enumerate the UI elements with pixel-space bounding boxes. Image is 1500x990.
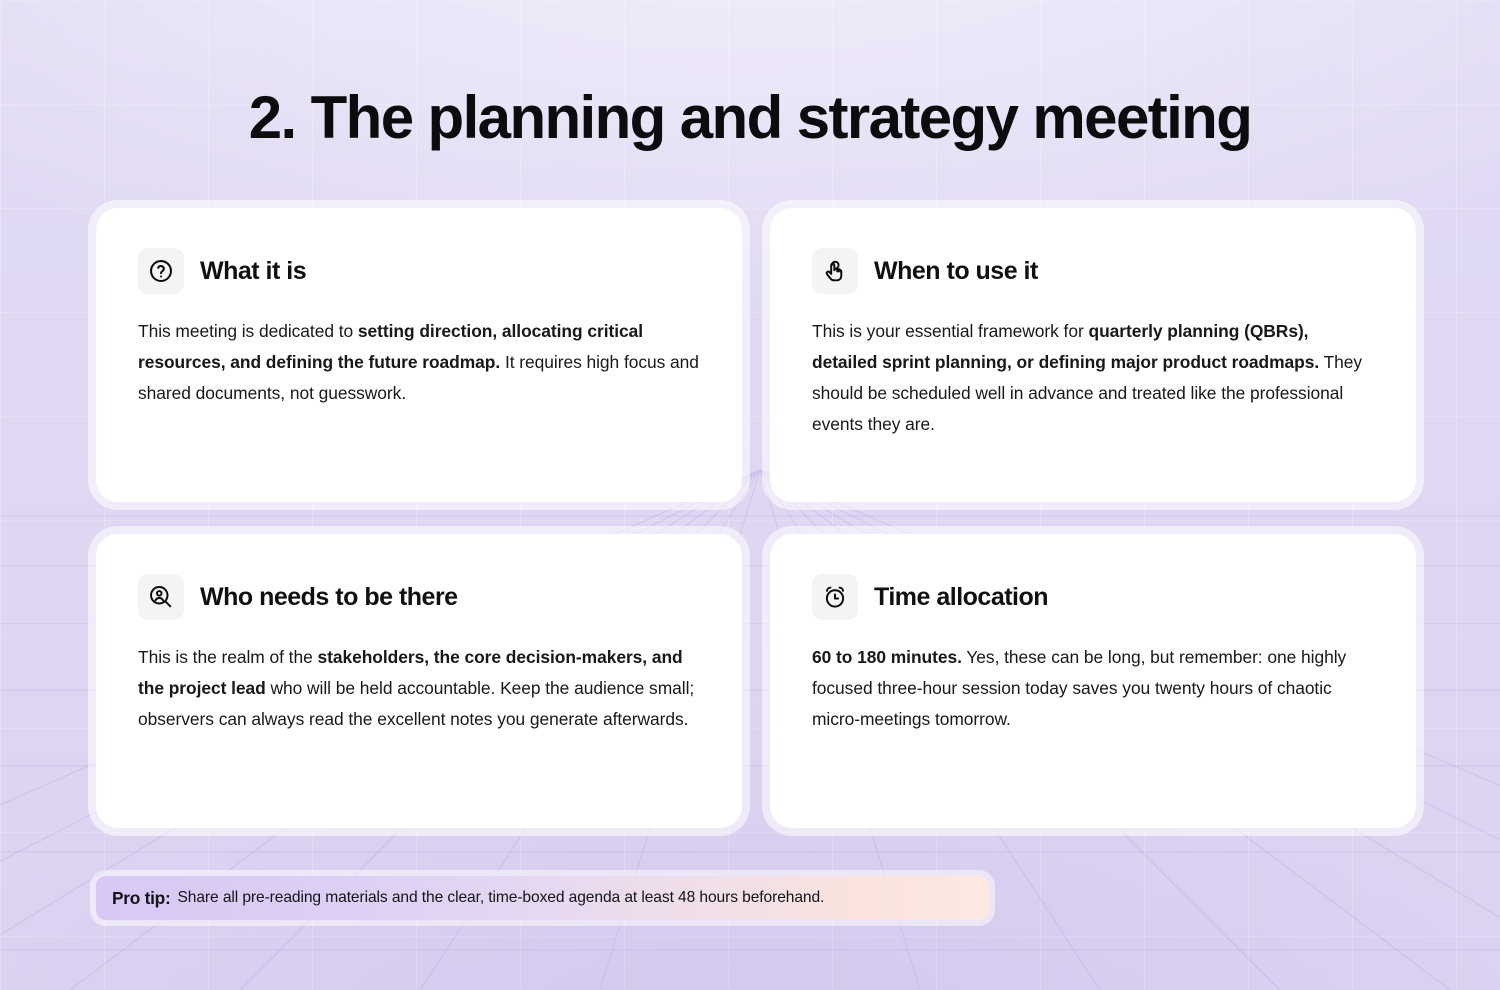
card-who-needs-to-be-there: Who needs to be there This is the realm … <box>96 534 742 828</box>
pro-tip-text: Share all pre-reading materials and the … <box>177 889 824 907</box>
card-body: 60 to 180 minutes. Yes, these can be lon… <box>812 642 1374 735</box>
card-body: This is your essential framework for qua… <box>812 316 1374 440</box>
person-search-icon <box>138 574 184 620</box>
card-header: What it is <box>138 248 700 294</box>
pro-tip-banner: Pro tip: Share all pre-reading materials… <box>96 876 989 920</box>
alarm-clock-icon <box>812 574 858 620</box>
card-body: This meeting is dedicated to setting dir… <box>138 316 700 409</box>
card-header: Who needs to be there <box>138 574 700 620</box>
card-title: Who needs to be there <box>200 583 458 612</box>
page-title: 2. The planning and strategy meeting <box>0 86 1500 149</box>
card-time-allocation: Time allocation 60 to 180 minutes. Yes, … <box>770 534 1416 828</box>
card-header: Time allocation <box>812 574 1374 620</box>
pro-tip-label: Pro tip: <box>112 888 170 909</box>
question-circle-icon <box>138 248 184 294</box>
card-body: This is the realm of the stakeholders, t… <box>138 642 700 735</box>
card-title: Time allocation <box>874 583 1048 612</box>
tap-hand-icon <box>812 248 858 294</box>
card-grid: What it is This meeting is dedicated to … <box>96 208 1416 828</box>
card-title: What it is <box>200 257 306 286</box>
card-what-it-is: What it is This meeting is dedicated to … <box>96 208 742 502</box>
card-title: When to use it <box>874 257 1038 286</box>
card-header: When to use it <box>812 248 1374 294</box>
card-when-to-use-it: When to use it This is your essential fr… <box>770 208 1416 502</box>
slide-canvas: 2. The planning and strategy meeting Wha… <box>0 0 1500 990</box>
